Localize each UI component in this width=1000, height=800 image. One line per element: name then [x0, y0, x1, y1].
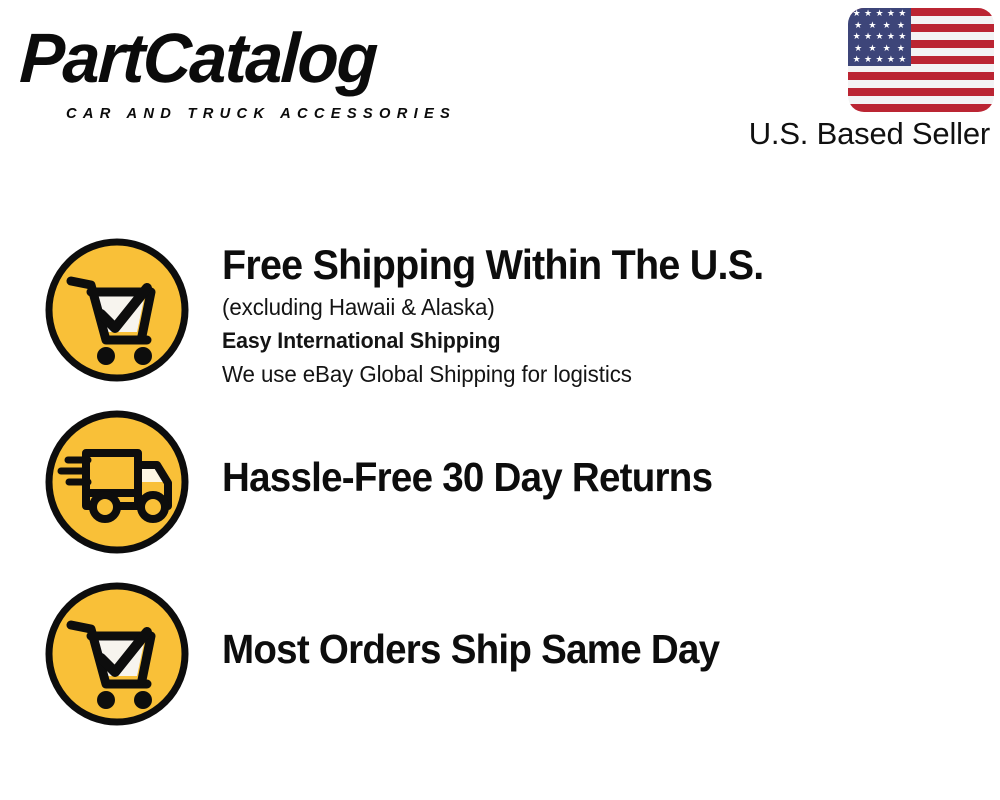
- flag-star: ★: [853, 9, 861, 18]
- flag-stripe: [848, 80, 994, 88]
- flag-star: ★: [853, 32, 861, 41]
- flag-star: ★: [887, 55, 895, 64]
- flag-stripe: [848, 88, 994, 96]
- feature-row: Free Shipping Within The U.S. (excluding…: [0, 236, 1000, 391]
- flag-star-row: ★ ★ ★ ★ ★: [848, 8, 911, 20]
- feature-title: Hassle-Free 30 Day Returns: [222, 452, 953, 502]
- flag-stripe: [848, 72, 994, 80]
- feature-subheading: Easy International Shipping: [222, 324, 977, 357]
- flag-star: ★: [897, 21, 905, 30]
- brand-logo[interactable]: PartCatalog CAR AND TRUCK ACCESSORIES: [22, 20, 492, 120]
- feature-note: (excluding Hawaii & Alaska): [222, 290, 977, 324]
- flag-star-row: ★ ★ ★ ★ ★: [848, 54, 911, 66]
- flag-star: ★: [887, 32, 895, 41]
- feature-text-block: Free Shipping Within The U.S. (excluding…: [222, 236, 1000, 391]
- flag-star: ★: [875, 55, 883, 64]
- feature-detail: We use eBay Global Shipping for logistic…: [222, 357, 977, 391]
- flag-star: ★: [898, 55, 906, 64]
- flag-star: ★: [875, 9, 883, 18]
- feature-row: Hassle-Free 30 Day Returns: [0, 408, 1000, 556]
- us-flag-icon: ★ ★ ★ ★ ★ ★ ★ ★ ★ ★ ★ ★ ★ ★: [848, 8, 994, 112]
- delivery-truck-icon: [43, 408, 191, 556]
- seller-badge-label: U.S. Based Seller: [694, 116, 994, 152]
- feature-text-block: Hassle-Free 30 Day Returns: [222, 408, 1000, 502]
- feature-row: Most Orders Ship Same Day: [0, 580, 1000, 728]
- flag-star: ★: [868, 44, 876, 53]
- flag-star: ★: [883, 21, 891, 30]
- flag-star: ★: [864, 55, 872, 64]
- flag-star: ★: [897, 44, 905, 53]
- flag-stripe: [848, 96, 994, 104]
- brand-wordmark: PartCatalog: [18, 20, 378, 96]
- flag-star-row: ★ ★ ★ ★: [848, 20, 911, 32]
- flag-star: ★: [854, 21, 862, 30]
- flag-star: ★: [868, 21, 876, 30]
- brand-tagline: CAR AND TRUCK ACCESSORIES: [66, 105, 456, 122]
- flag-star: ★: [898, 32, 906, 41]
- flag-star: ★: [887, 9, 895, 18]
- shopping-cart-check-icon: [43, 236, 191, 384]
- flag-stripe: [848, 104, 994, 112]
- flag-star-row: ★ ★ ★ ★: [848, 43, 911, 55]
- flag-star: ★: [854, 44, 862, 53]
- flag-star: ★: [864, 32, 872, 41]
- flag-canton: ★ ★ ★ ★ ★ ★ ★ ★ ★ ★ ★ ★ ★ ★: [848, 8, 911, 66]
- flag-star-row: ★ ★ ★ ★ ★: [848, 31, 911, 43]
- feature-title: Free Shipping Within The U.S.: [222, 240, 953, 290]
- flag-star: ★: [853, 55, 861, 64]
- shopping-cart-check-icon: [43, 580, 191, 728]
- flag-star: ★: [883, 44, 891, 53]
- flag-star: ★: [875, 32, 883, 41]
- feature-title: Most Orders Ship Same Day: [222, 624, 953, 674]
- shipping-info-banner: PartCatalog CAR AND TRUCK ACCESSORIES: [0, 0, 1000, 800]
- feature-text-block: Most Orders Ship Same Day: [222, 580, 1000, 674]
- us-based-seller-badge: ★ ★ ★ ★ ★ ★ ★ ★ ★ ★ ★ ★ ★ ★: [694, 8, 994, 152]
- flag-star: ★: [898, 9, 906, 18]
- flag-star: ★: [864, 9, 872, 18]
